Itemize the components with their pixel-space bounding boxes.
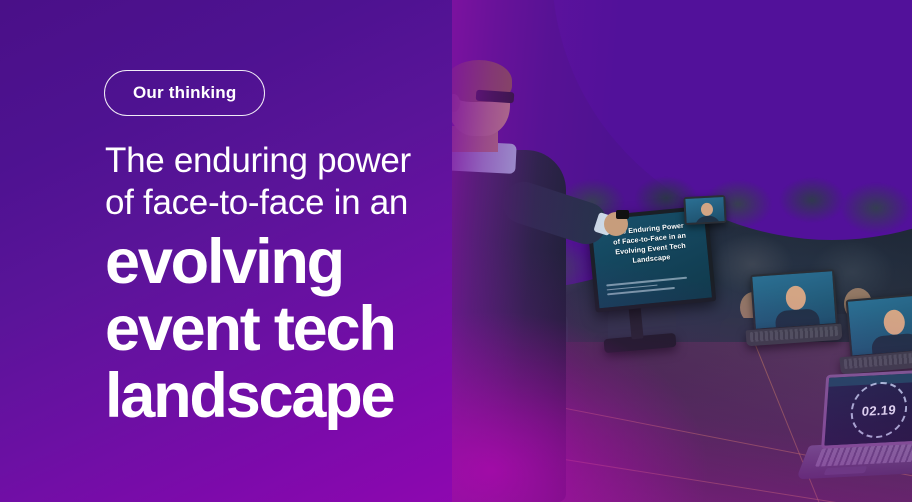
headline-line-2: of face-to-face in an (105, 182, 745, 224)
headline-bold: evolving event tech landscape (105, 229, 745, 430)
headline-line-1: The enduring power (105, 140, 745, 182)
headline-light: The enduring power of face-to-face in an (105, 140, 745, 223)
hero-content: Our thinking The enduring power of face-… (0, 0, 912, 502)
badge-label: Our thinking (133, 83, 236, 102)
headline-line-4: event tech (105, 296, 745, 363)
headline-line-3: evolving (105, 229, 745, 296)
page-title: The enduring power of face-to-face in an… (105, 140, 745, 431)
hero-banner: The Enduring Power of Face-to-Face in an… (0, 0, 912, 502)
our-thinking-badge[interactable]: Our thinking (104, 70, 265, 116)
headline-line-5: landscape (105, 363, 745, 430)
